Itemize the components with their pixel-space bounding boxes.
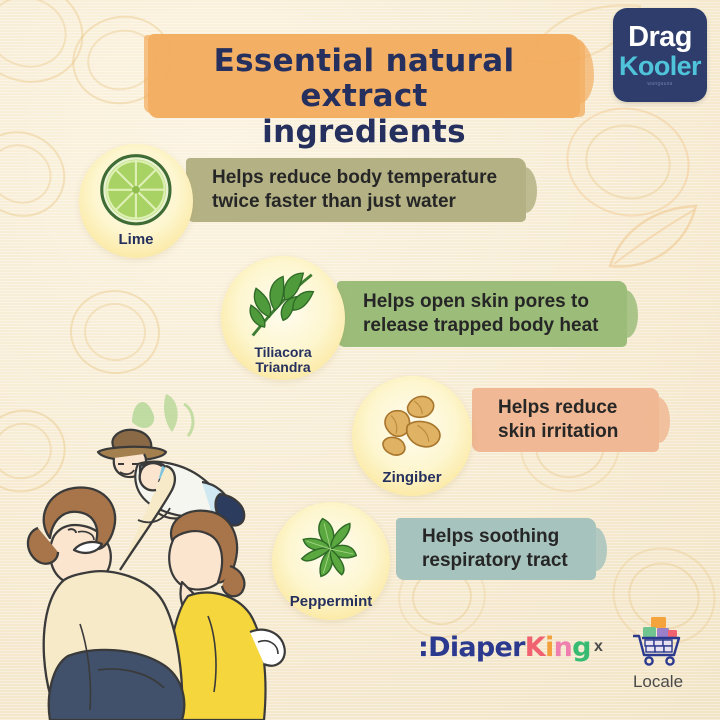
benefit-stroke-tiliacora: Helps open skin pores to release trapped… [337,281,627,347]
diaperking-i: i [545,632,554,663]
benefit-text-tiliacora: Helps open skin pores to release trapped… [337,290,598,337]
benefit-line1: Helps open skin pores to [363,290,598,314]
benefit-text-lime: Helps reduce body temperature twice fast… [186,166,497,213]
partner-brands-footer: :DiaperKing x Locale [418,616,698,692]
benefit-line1: Helps reduce body temperature [212,166,497,190]
benefit-line2: twice faster than just water [212,190,497,214]
infographic-poster: Drag Kooler wangausa Essential natural e… [0,0,720,720]
diaperking-logo[interactable]: :DiaperKing [418,632,591,663]
ingredient-name-line1: Tiliacora [254,345,311,359]
ingredient-name-lime: Lime [118,232,153,258]
benefit-line2: respiratory tract [422,549,568,573]
family-playing-illustration [2,420,312,720]
benefit-stroke-peppermint: Helps soothing respiratory tract [396,518,596,580]
ingredient-name-line2: Triandra [254,360,311,374]
locale-name: Locale [621,672,695,692]
benefit-stroke-lime: Helps reduce body temperature twice fast… [186,158,526,222]
benefit-text-zingiber: Helps reduce skin irritation [472,396,618,443]
ingredient-name-zingiber: Zingiber [382,470,441,496]
locale-logo[interactable]: Locale [621,616,695,692]
diaperking-g: g [572,632,591,663]
diaperking-n: n [554,632,573,663]
shopping-cart-icon [631,616,685,666]
diaperking-part1: Diaper [428,632,525,663]
benefit-line2: release trapped body heat [363,314,598,338]
diaperking-colon: : [418,632,428,663]
benefit-line1: Helps reduce [498,396,618,420]
benefit-line2: skin irritation [498,420,618,444]
diaperking-k: K [525,632,545,663]
ingredient-name-tiliacora: Tiliacora Triandra [254,345,311,380]
ingredient-name-peppermint: Peppermint [290,594,373,620]
benefit-line1: Helps soothing [422,525,568,549]
partnership-separator: x [594,638,603,656]
benefit-text-peppermint: Helps soothing respiratory tract [396,525,568,572]
